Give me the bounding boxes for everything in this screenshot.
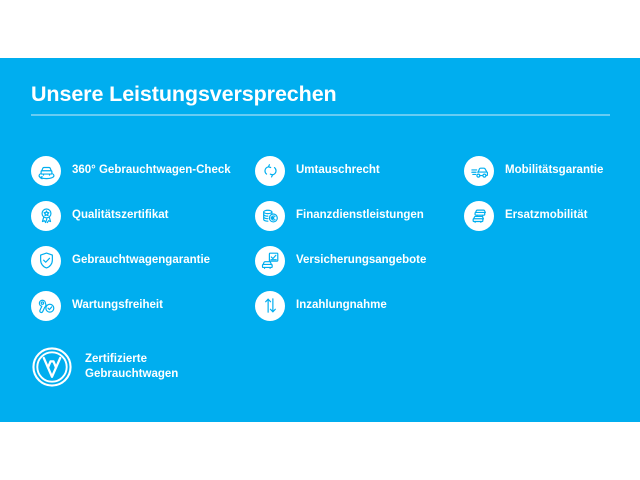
benefits-column-2: Umtauschrecht Finanz [255,148,464,328]
screenshot-canvas: Unsere Leistungsversprechen 360° Gebrauc… [0,0,640,480]
list-item[interactable]: Wartungsfreiheit [31,283,255,328]
volkswagen-logo-icon [31,346,73,388]
list-item[interactable]: Finanzdienstleistungen [255,193,464,238]
vw-certified-badge: Zertifizierte Gebrauchtwagen [31,346,178,388]
up-down-arrows-icon [255,291,285,321]
list-item[interactable]: Ersatzmobilität [464,193,640,238]
list-item-label: Inzahlungnahme [296,299,387,312]
benefits-column-1: 360° Gebrauchtwagen-Check Qualitätszerti… [31,148,255,328]
list-item-label: Wartungsfreiheit [72,299,163,312]
shield-check-icon [31,246,61,276]
list-item-label: Gebrauchtwagengarantie [72,254,210,267]
list-item-label: Finanzdienstleistungen [296,209,424,222]
list-item[interactable]: Inzahlungnahme [255,283,464,328]
benefits-column-3: Mobilitätsgarantie Ersatzmobilitä [464,148,640,238]
car-360-check-icon [31,156,61,186]
list-item[interactable]: Versicherungsangebote [255,238,464,283]
tow-truck-icon [464,156,494,186]
coins-euro-icon [255,201,285,231]
two-cars-icon [464,201,494,231]
car-document-check-icon [255,246,285,276]
wrench-check-icon [31,291,61,321]
list-item[interactable]: 360° Gebrauchtwagen-Check [31,148,255,193]
vw-certified-label: Zertifizierte Gebrauchtwagen [85,352,178,381]
list-item-label: Ersatzmobilität [505,209,587,222]
list-item[interactable]: Mobilitätsgarantie [464,148,640,193]
list-item-label: Mobilitätsgarantie [505,164,603,177]
list-item-label: Versicherungsangebote [296,254,426,267]
list-item[interactable]: Qualitätszertifikat [31,193,255,238]
quality-seal-icon [31,201,61,231]
list-item-label: Umtauschrecht [296,164,380,177]
exchange-arrows-icon [255,156,285,186]
benefits-grid: 360° Gebrauchtwagen-Check Qualitätszerti… [0,0,640,480]
list-item[interactable]: Umtauschrecht [255,148,464,193]
list-item-label: Qualitätszertifikat [72,209,169,222]
list-item-label: 360° Gebrauchtwagen-Check [72,164,231,177]
list-item[interactable]: Gebrauchtwagengarantie [31,238,255,283]
